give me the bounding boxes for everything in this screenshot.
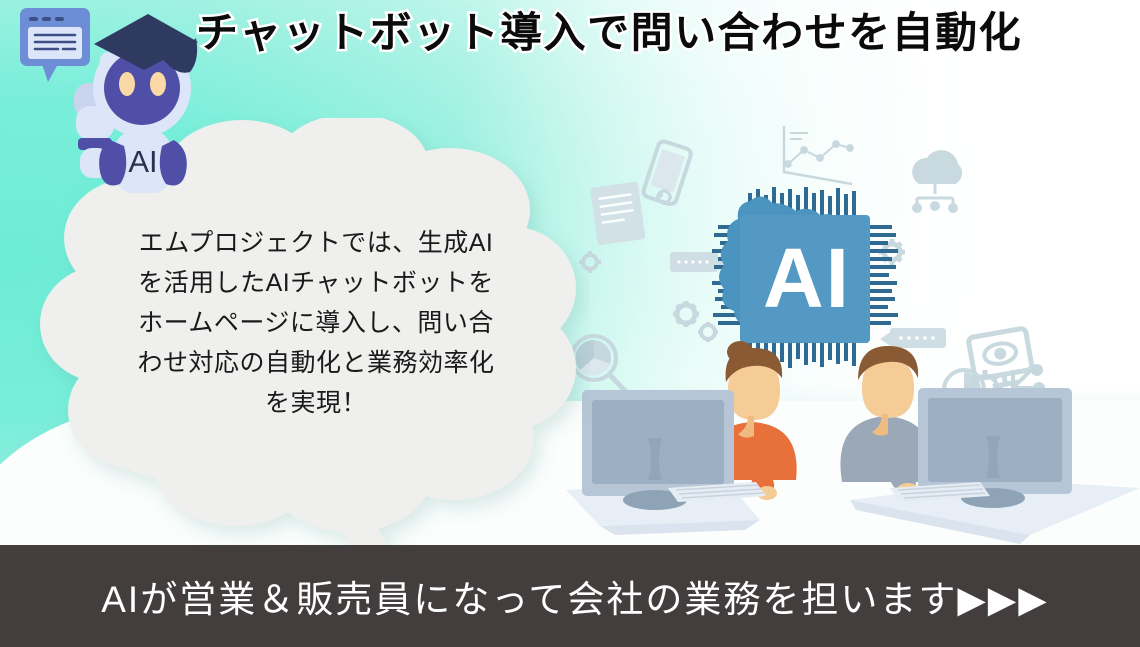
- chatbot-promo-banner: AI: [0, 0, 1140, 647]
- robot-mascot: AI: [8, 2, 208, 192]
- line-chart-icon: [784, 126, 853, 184]
- page-title: チャットボット導入で問い合わせを自動化: [196, 4, 1126, 62]
- robot-chest-label: AI: [128, 144, 157, 179]
- smartphone-gear-icon: [642, 140, 692, 206]
- document-gear-icon: [590, 181, 646, 245]
- speech-bubble-text: エムプロジェクトでは、生成AIを活用したAIチャットボットをホームページに導入し…: [126, 223, 506, 423]
- cloud-network-icon: [912, 150, 962, 213]
- robot-icon: AI: [70, 8, 200, 193]
- people-at-desks-illustration: [560, 330, 1140, 545]
- footer-text: AIが営業＆販売員になって会社の業務を担います▶▶▶: [0, 545, 1140, 647]
